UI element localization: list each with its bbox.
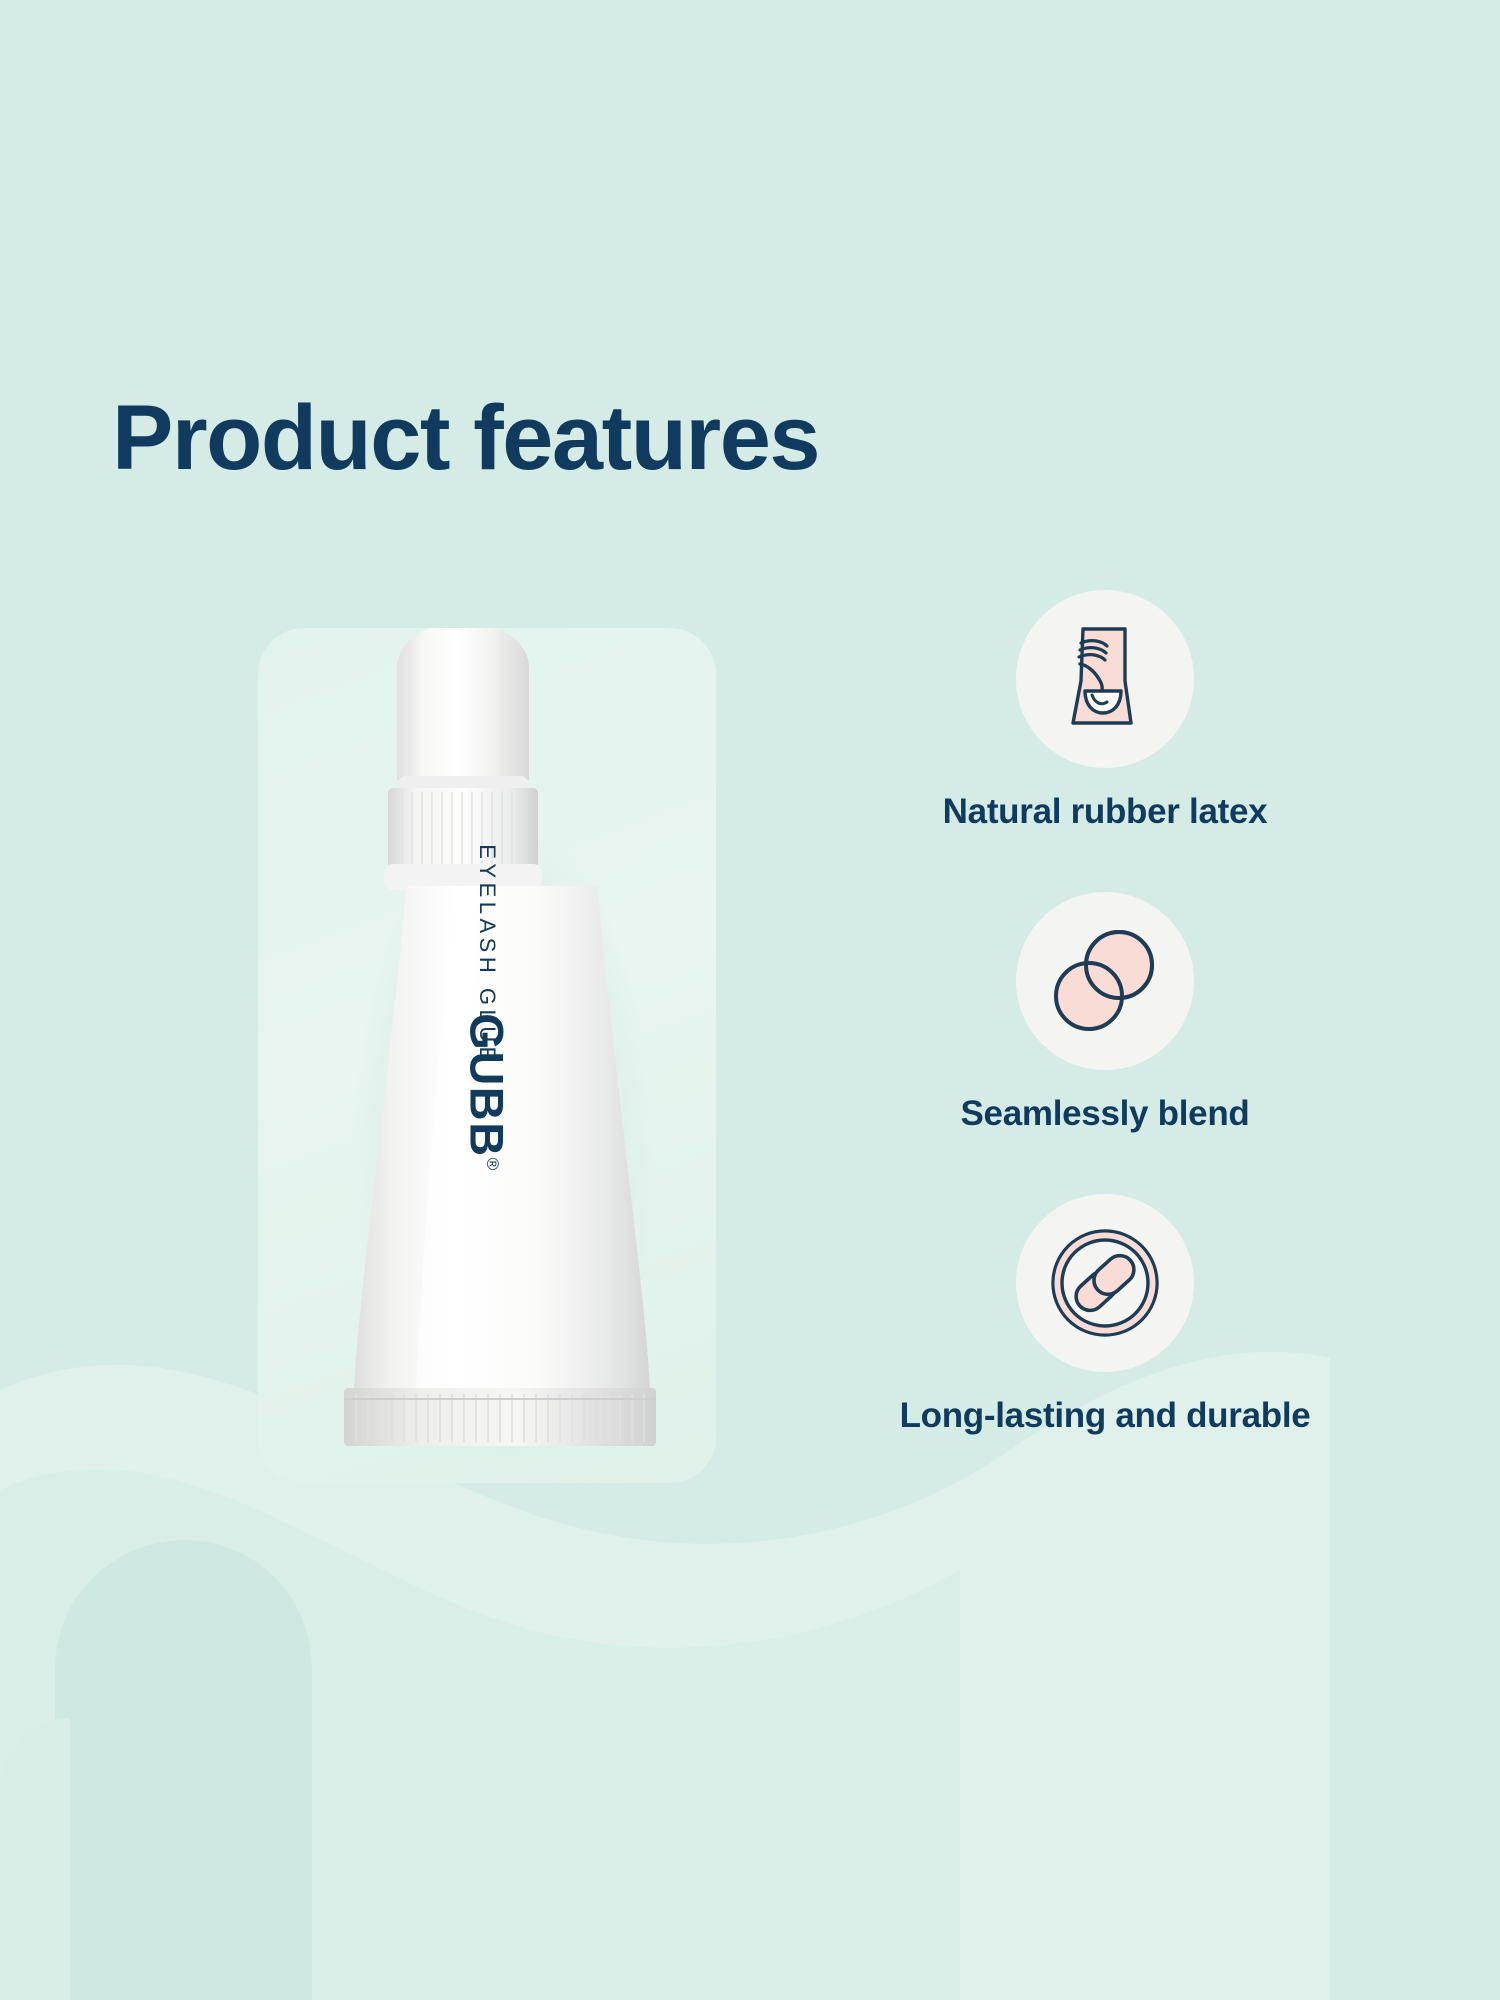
product-image-area: GUBB® EYELASH GLUE [258, 628, 716, 1483]
page-title: Product features [112, 392, 819, 484]
feature-label: Natural rubber latex [943, 792, 1268, 832]
feature-label: Seamlessly blend [961, 1094, 1250, 1134]
chain-link-durability-icon [1043, 1221, 1167, 1345]
feature-item-natural-rubber-latex: Natural rubber latex [760, 590, 1450, 832]
feature-badge [1016, 1194, 1194, 1372]
trademark-symbol: ® [483, 1158, 502, 1172]
feature-list: Natural rubber latex Seamlessly blend [760, 590, 1450, 1492]
overlapping-circles-blend-icon [1044, 920, 1166, 1042]
feature-item-seamlessly-blend: Seamlessly blend [760, 892, 1450, 1134]
feature-label: Long-lasting and durable [900, 1396, 1311, 1436]
rubber-tree-tapping-icon [1045, 619, 1165, 739]
feature-badge [1016, 892, 1194, 1070]
feature-badge [1016, 590, 1194, 768]
tube-descriptor-text: EYELASH GLUE [474, 844, 500, 1066]
feature-item-long-lasting-durable: Long-lasting and durable [760, 1194, 1450, 1436]
product-tube: GUBB® EYELASH GLUE [258, 628, 716, 1483]
